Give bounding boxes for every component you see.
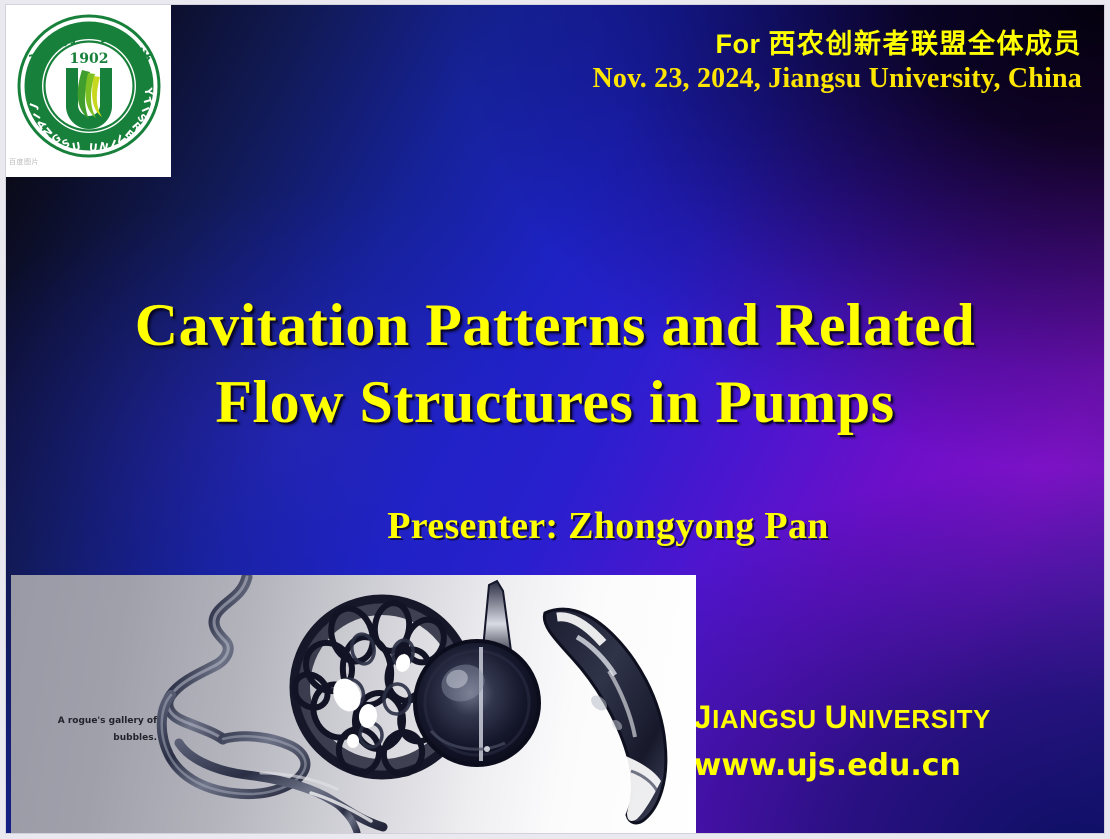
header-for-label: For — [716, 29, 769, 59]
footer-org-initial-j: J — [694, 699, 712, 735]
footer-organization: JIANGSU UNIVERSITY — [694, 697, 991, 739]
footer-org-niversity: NIVERSITY — [848, 704, 991, 734]
header-block: For 西农创新者联盟全体成员 Nov. 23, 2024, Jiangsu U… — [592, 29, 1082, 95]
university-logo-box: 江 苏 大 学 J I A N G S U U N I V — [6, 5, 171, 177]
title-line-2: Flow Structures in Pumps — [6, 364, 1104, 441]
crescent-sheet-cavity — [544, 609, 666, 823]
presenter-line: Presenter: Zhongyong Pan — [6, 504, 1104, 548]
gallery-caption-line-2: bubbles. — [29, 730, 157, 747]
title-line-1: Cavitation Patterns and Related — [6, 287, 1104, 364]
spherical-bubble-with-jet — [415, 581, 539, 765]
header-audience-cjk: 西农创新者联盟全体成员 — [769, 29, 1083, 60]
logo-watermark: 百度图片 — [9, 157, 39, 167]
footer-org-initial-u: U — [825, 699, 849, 735]
slide-frame: 江 苏 大 学 J I A N G S U U N I V — [5, 4, 1105, 834]
gallery-caption: A rogue's gallery of bubbles. — [29, 713, 157, 746]
jiangsu-university-seal-icon: 江 苏 大 学 J I A N G S U U N I V — [13, 10, 165, 162]
presentation-slide: 江 苏 大 学 J I A N G S U U N I V — [0, 0, 1110, 839]
cavitation-bubbles-illustration — [11, 575, 696, 834]
header-date-venue-line: Nov. 23, 2024, Jiangsu University, China — [592, 63, 1082, 94]
page-title: Cavitation Patterns and Related Flow Str… — [6, 287, 1104, 441]
bubble-gallery-image: A rogue's gallery of bubbles. — [11, 575, 696, 834]
footer-website-url[interactable]: www.ujs.edu.cn — [694, 746, 991, 785]
seal-latin-char: U — [88, 142, 98, 155]
footer-org-iangsu: IANGSU — [712, 704, 817, 734]
footer-block: JIANGSU UNIVERSITY www.ujs.edu.cn — [694, 697, 991, 785]
seal-year: 1902 — [70, 51, 109, 67]
gallery-caption-line-1: A rogue's gallery of — [29, 713, 157, 730]
header-audience-line: For 西农创新者联盟全体成员 — [592, 29, 1082, 60]
